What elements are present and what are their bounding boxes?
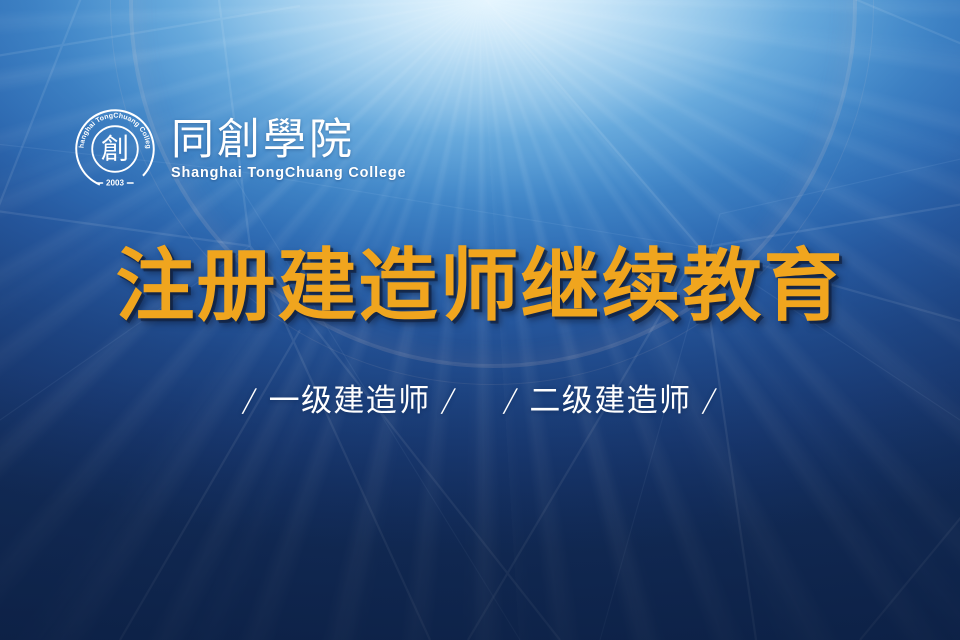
seal-year: 2003: [106, 179, 124, 188]
subtitle-item-level-1: 一级建造师: [269, 383, 431, 419]
brand-logo: Shanghai TongChuang College 創 2003 同創學院 …: [72, 106, 406, 192]
headline-title: 注册建造师继续教育: [0, 247, 960, 326]
seal-center-glyph: 創: [101, 133, 129, 166]
college-seal-icon: Shanghai TongChuang College 創 2003: [72, 106, 158, 192]
slash-close-1: /: [437, 381, 460, 422]
slash-open-1: /: [239, 381, 262, 422]
brand-name-en: Shanghai TongChuang College: [171, 165, 406, 181]
banner-content: Shanghai TongChuang College 創 2003 同創學院 …: [0, 0, 960, 640]
promo-banner: Shanghai TongChuang College 創 2003 同創學院 …: [0, 0, 960, 640]
brand-wordmark: 同創學院 Shanghai TongChuang College: [171, 117, 406, 182]
slash-open-2: /: [500, 381, 523, 422]
subtitle-item-level-2: 二级建造师: [529, 383, 691, 419]
slash-close-2: /: [698, 381, 721, 422]
brand-name-cn: 同創學院: [171, 119, 355, 163]
subtitle-line: / 一级建造师 / / 二级建造师 /: [0, 381, 960, 422]
